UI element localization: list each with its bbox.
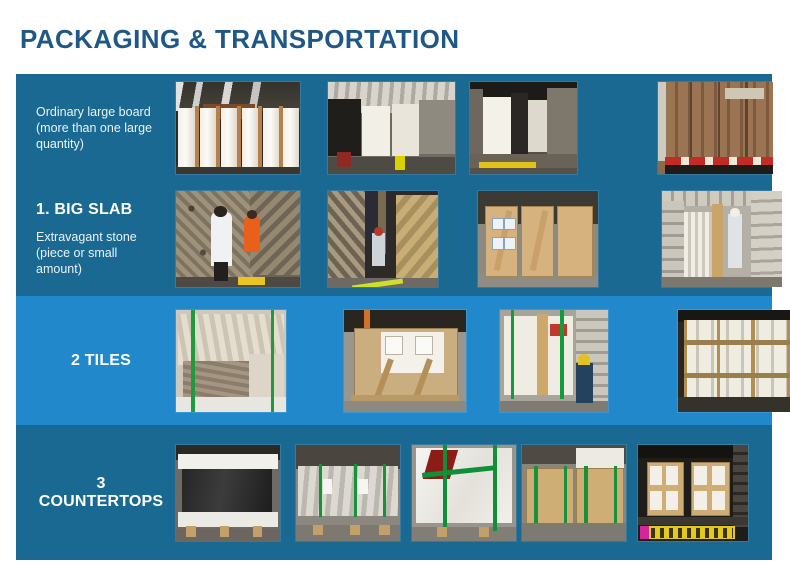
image-strip-countertops bbox=[176, 425, 772, 560]
image-cell bbox=[412, 445, 522, 541]
photo-worker-stuffing-crates-into-container bbox=[662, 191, 782, 287]
photo-loading-crated-tiles-into-container bbox=[500, 310, 608, 412]
image-cell bbox=[328, 191, 470, 287]
image-cell bbox=[626, 191, 790, 287]
image-cell bbox=[618, 82, 790, 174]
photo-wooden-a-frame-crates-with-labels bbox=[478, 191, 598, 287]
image-cell bbox=[522, 445, 638, 541]
photo-container-interior-fully-loaded-with-crates bbox=[678, 310, 790, 412]
row-description-ordinary-board: Ordinary large board (more than one larg… bbox=[36, 104, 166, 152]
image-cell bbox=[176, 191, 328, 287]
row-description-extravagant-stone: Extravagant stone (piece or small amount… bbox=[36, 229, 166, 277]
row-heading-big-slab: 1. BIG SLAB bbox=[36, 201, 166, 219]
image-cell bbox=[486, 310, 648, 412]
photo-white-wrapped-bundle-with-green-straps bbox=[412, 445, 516, 541]
photo-workers-handling-granite-slab bbox=[176, 191, 300, 287]
photo-wrapped-white-slab-bundles-warehouse bbox=[176, 82, 300, 174]
row-big-slab-extravagant: 1. BIG SLAB Extravagant stone (piece or … bbox=[16, 182, 772, 296]
row-label-tiles: 2 TILES bbox=[16, 296, 176, 425]
photo-crated-tiles-on-pallet-with-labels bbox=[344, 310, 466, 412]
image-cell bbox=[296, 445, 412, 541]
photo-brown-container-rear-doors-on-truck bbox=[658, 82, 773, 174]
row-countertops: 3 COUNTERTOPS bbox=[16, 425, 772, 560]
photo-slabs-loading-at-truck-dock bbox=[328, 82, 455, 174]
photo-grey-countertop-slabs-strapped-on-pallets bbox=[296, 445, 400, 541]
page-title: PACKAGING & TRANSPORTATION bbox=[20, 24, 459, 55]
image-cell bbox=[176, 310, 328, 412]
photo-two-wooden-crates-strapped-on-pallets bbox=[522, 445, 626, 541]
row-big-slab-ordinary: Ordinary large board (more than one larg… bbox=[16, 74, 772, 182]
photo-slab-aisle-in-warehouse-with-worker bbox=[328, 191, 438, 287]
image-strip-tiles bbox=[176, 296, 790, 425]
image-strip-big-slab-extravagant bbox=[176, 182, 790, 296]
row-label-big-slab-ordinary: Ordinary large board (more than one larg… bbox=[16, 74, 176, 182]
image-cell bbox=[648, 310, 790, 412]
image-cell bbox=[470, 191, 626, 287]
row-label-countertops: 3 COUNTERTOPS bbox=[16, 425, 176, 560]
image-cell bbox=[176, 445, 296, 541]
photo-crates-inside-container-with-yellow-marking bbox=[638, 445, 748, 541]
photo-slabs-loaded-inside-container-on-trailer bbox=[470, 82, 577, 174]
image-cell bbox=[176, 82, 328, 174]
row-tiles: 2 TILES bbox=[16, 296, 772, 425]
image-cell bbox=[470, 82, 618, 174]
row-heading-tiles: 2 TILES bbox=[36, 352, 166, 370]
photo-black-countertop-on-white-pallet bbox=[176, 445, 280, 541]
image-strip-big-slab-ordinary bbox=[176, 74, 790, 182]
image-cell bbox=[328, 310, 486, 412]
image-cell bbox=[638, 445, 758, 541]
image-cell bbox=[328, 82, 470, 174]
photo-strapped-tile-bundle-on-pallet bbox=[176, 310, 286, 412]
row-label-big-slab-extravagant: 1. BIG SLAB Extravagant stone (piece or … bbox=[16, 182, 176, 296]
packaging-matrix-panel: Ordinary large board (more than one larg… bbox=[16, 74, 772, 560]
slide-canvas: PACKAGING & TRANSPORTATION Ordinary larg… bbox=[0, 0, 790, 584]
row-heading-countertops: 3 COUNTERTOPS bbox=[36, 475, 166, 511]
